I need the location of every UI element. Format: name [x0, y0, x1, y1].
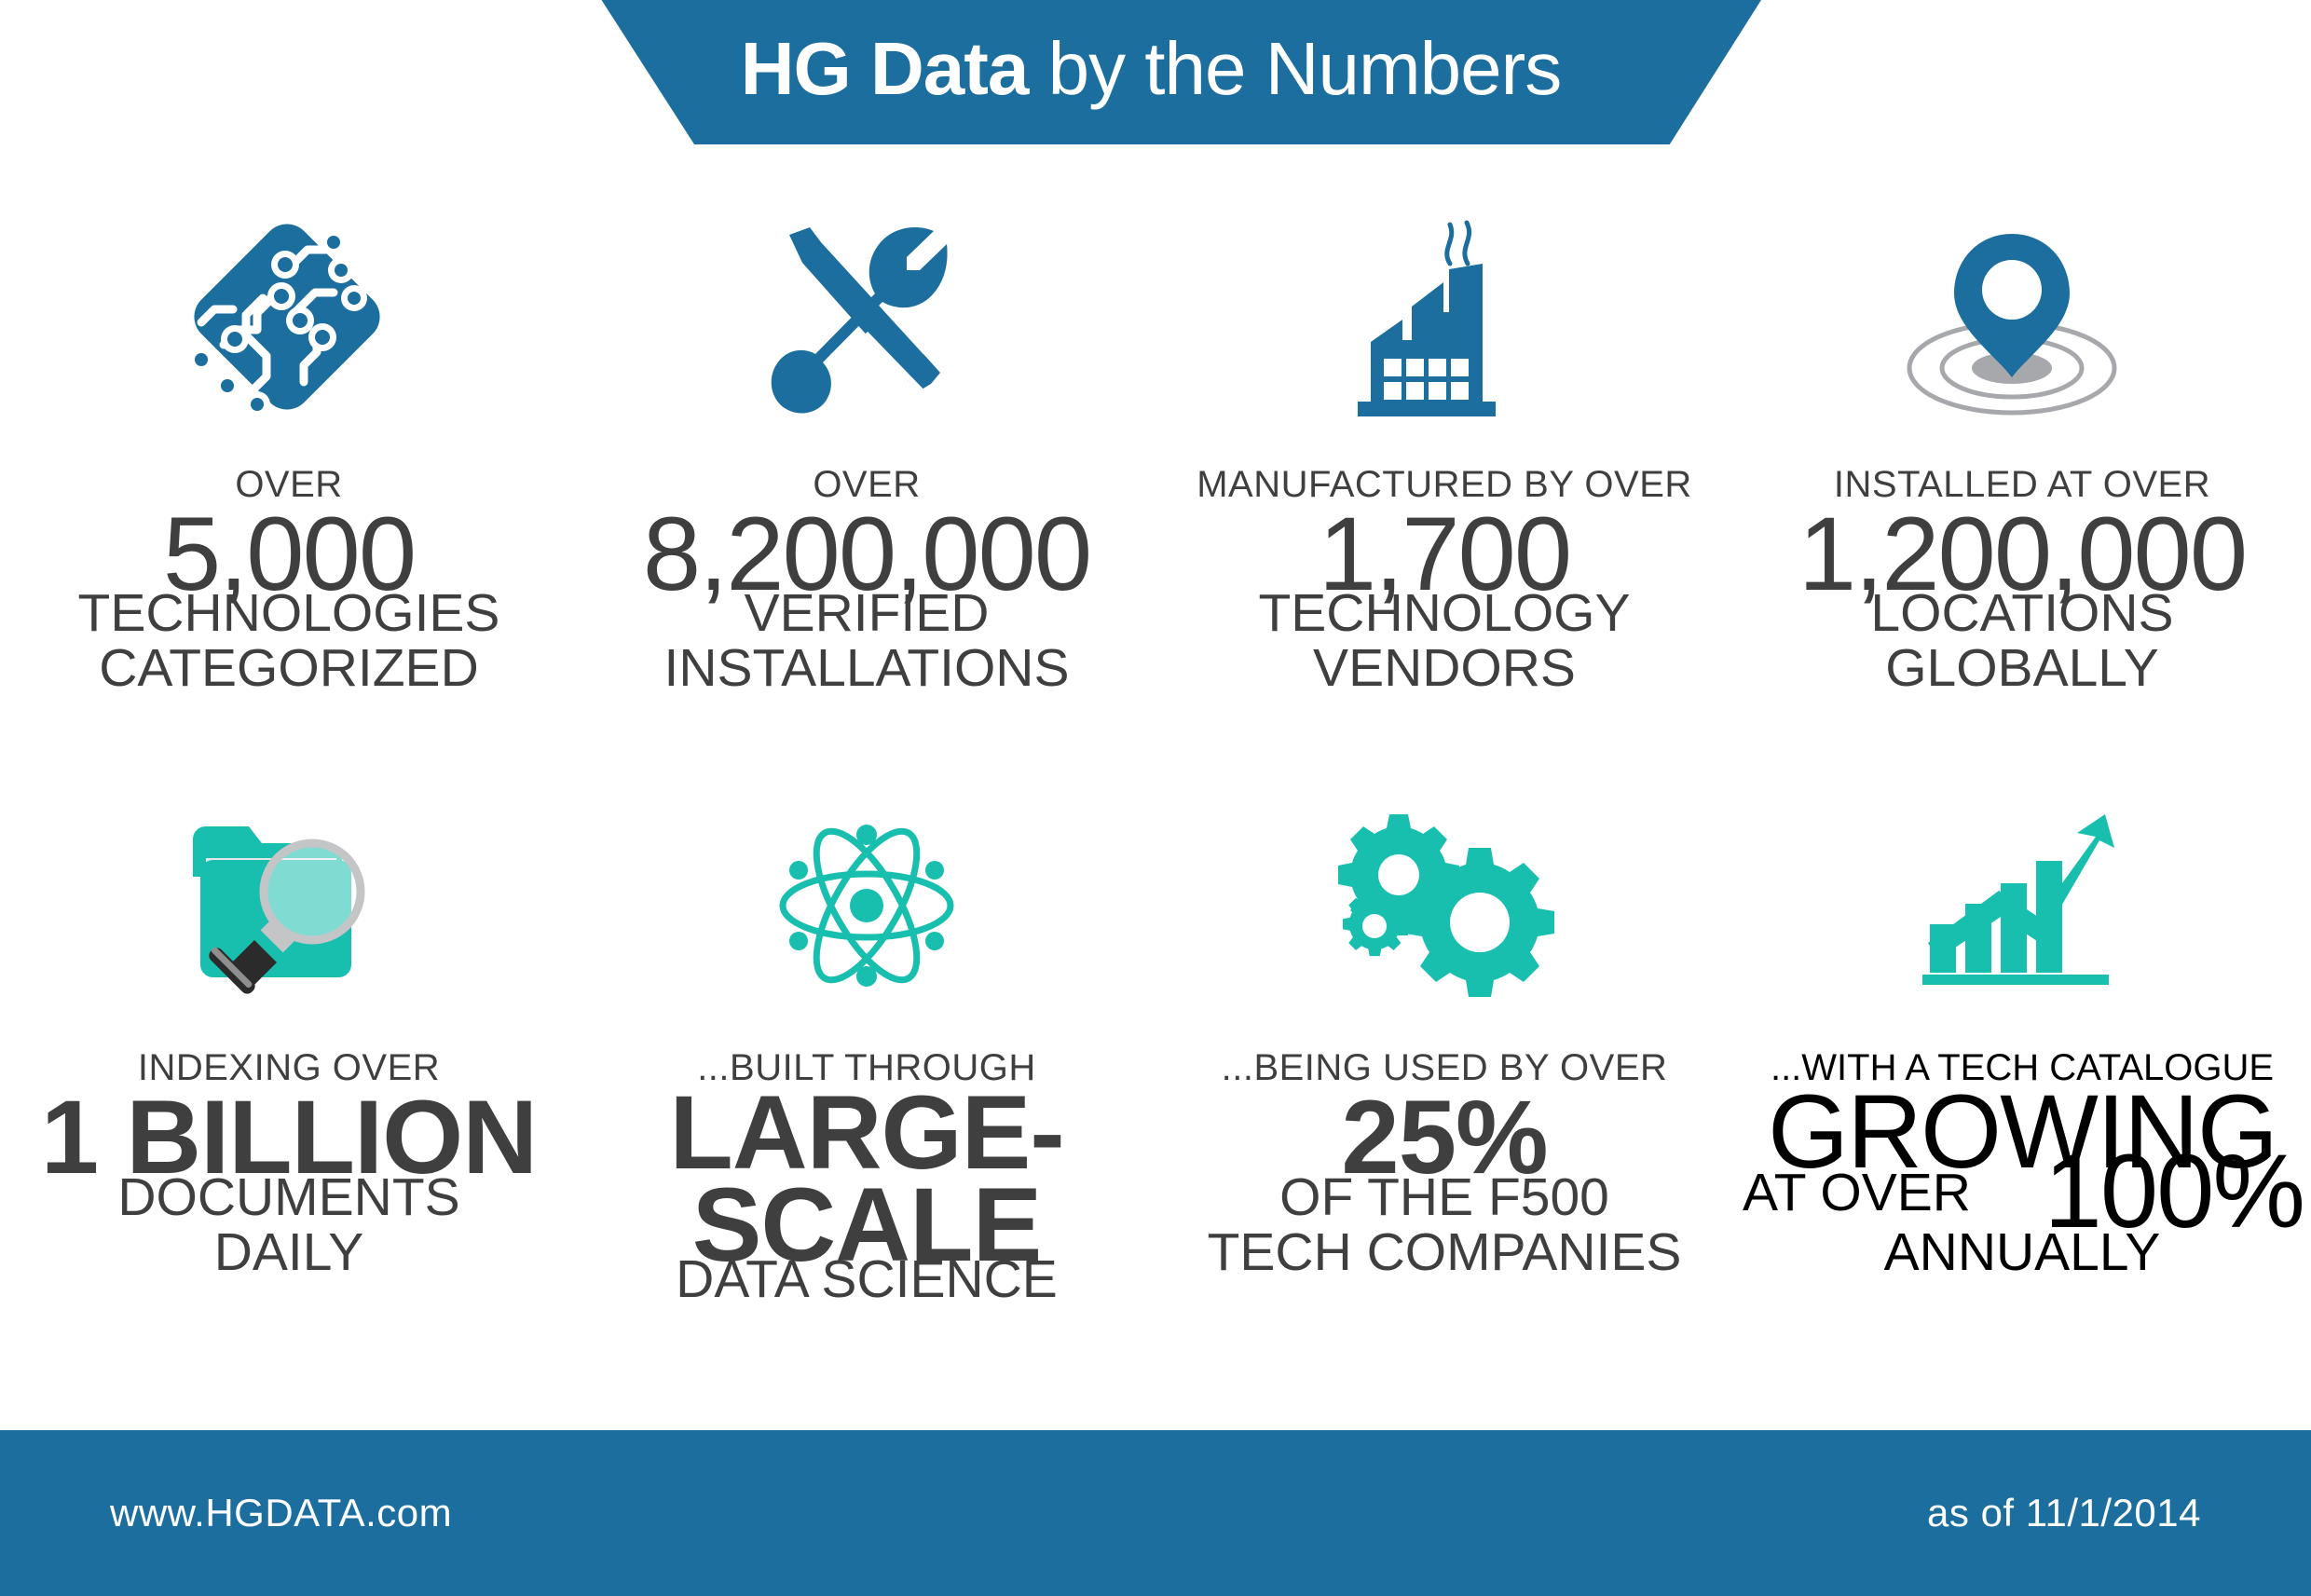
- stats-row-2: INDEXING OVER 1 BILLION DOCUMENTS DAILY: [0, 760, 2311, 1306]
- stat-sub-line2: GLOBALLY: [1733, 642, 2311, 695]
- map-pin-icon: [1733, 177, 2311, 466]
- stat-text: INSTALLED AT OVER 1,200,000 LOCATIONS GL…: [1733, 466, 2311, 695]
- page-title: HG Data by the Numbers: [741, 32, 1562, 106]
- footer-website[interactable]: www.HGDATA.com: [110, 1491, 452, 1535]
- stat-sub-line2: INSTALLATIONS: [578, 642, 1155, 695]
- stat-text: OVER 8,200,000 VERIFIED INSTALLATIONS: [578, 466, 1155, 695]
- stat-sub-line2: VENDORS: [1155, 642, 1733, 695]
- stat-text: ...WITH A TECH CATALOGUE GROWING AT OVER…: [1733, 1049, 2311, 1282]
- stat-text: MANUFACTURED BY OVER 1,700 TECHNOLOGY VE…: [1155, 466, 1733, 695]
- title-light: by the Numbers: [1028, 27, 1561, 110]
- header-banner: HG Data by the Numbers: [540, 0, 1761, 144]
- stat-sub-line1: DATA SCIENCE: [578, 1253, 1155, 1306]
- stat-sub-line1: TECHNOLOGIES: [0, 587, 578, 640]
- stats-grid: OVER 5,000 TECHNOLOGIES CATEGORIZED: [0, 177, 2311, 1306]
- wrench-screwdriver-icon: [578, 177, 1155, 466]
- title-bold: HG Data: [741, 27, 1029, 110]
- footer-as-of-date: as of 11/1/2014: [1927, 1491, 2201, 1535]
- stat-card-locations: INSTALLED AT OVER 1,200,000 LOCATIONS GL…: [1733, 177, 2311, 695]
- circuit-chip-icon: [0, 177, 578, 466]
- stat-card-vendors: MANUFACTURED BY OVER 1,700 TECHNOLOGY VE…: [1155, 177, 1733, 695]
- stat-sub-line1: OF THE F500: [1155, 1171, 1733, 1224]
- stat-card-data-science: ...BUILT THROUGH LARGE- SCALE DATA SCIEN…: [578, 760, 1155, 1306]
- stats-row-1: OVER 5,000 TECHNOLOGIES CATEGORIZED: [0, 177, 2311, 695]
- stat-sub-line2: TECH COMPANIES: [1155, 1226, 1733, 1279]
- stat-card-f500: ...BEING USED BY OVER 25% OF THE F500 TE…: [1155, 760, 1733, 1306]
- stat-at-over-label: AT OVER: [1743, 1166, 1971, 1220]
- gears-icon: [1155, 760, 1733, 1049]
- stat-big-line1: LARGE-: [578, 1088, 1155, 1178]
- stat-annually-label: ANNUALLY: [1733, 1226, 2311, 1279]
- stat-card-installations: OVER 8,200,000 VERIFIED INSTALLATIONS: [578, 177, 1155, 695]
- stat-sub-line1: TECHNOLOGY: [1155, 587, 1733, 640]
- folder-search-icon: [0, 760, 578, 1049]
- stat-card-growth: ...WITH A TECH CATALOGUE GROWING AT OVER…: [1733, 760, 2311, 1306]
- stat-text: ...BUILT THROUGH LARGE- SCALE DATA SCIEN…: [578, 1049, 1155, 1306]
- footer-bar: www.HGDATA.com as of 11/1/2014: [0, 1430, 2311, 1596]
- stat-text: OVER 5,000 TECHNOLOGIES CATEGORIZED: [0, 466, 578, 695]
- growth-chart-icon: [1733, 760, 2311, 1049]
- stat-card-technologies: OVER 5,000 TECHNOLOGIES CATEGORIZED: [0, 177, 578, 695]
- stat-text: ...BEING USED BY OVER 25% OF THE F500 TE…: [1155, 1049, 1733, 1278]
- stat-card-documents: INDEXING OVER 1 BILLION DOCUMENTS DAILY: [0, 760, 578, 1306]
- stat-sub-line2: CATEGORIZED: [0, 642, 578, 695]
- header: HG Data by the Numbers: [0, 0, 2311, 144]
- stat-sub-line2: DAILY: [0, 1226, 578, 1279]
- atom-icon: [578, 760, 1155, 1049]
- stat-text: INDEXING OVER 1 BILLION DOCUMENTS DAILY: [0, 1049, 578, 1278]
- factory-icon: [1155, 177, 1733, 466]
